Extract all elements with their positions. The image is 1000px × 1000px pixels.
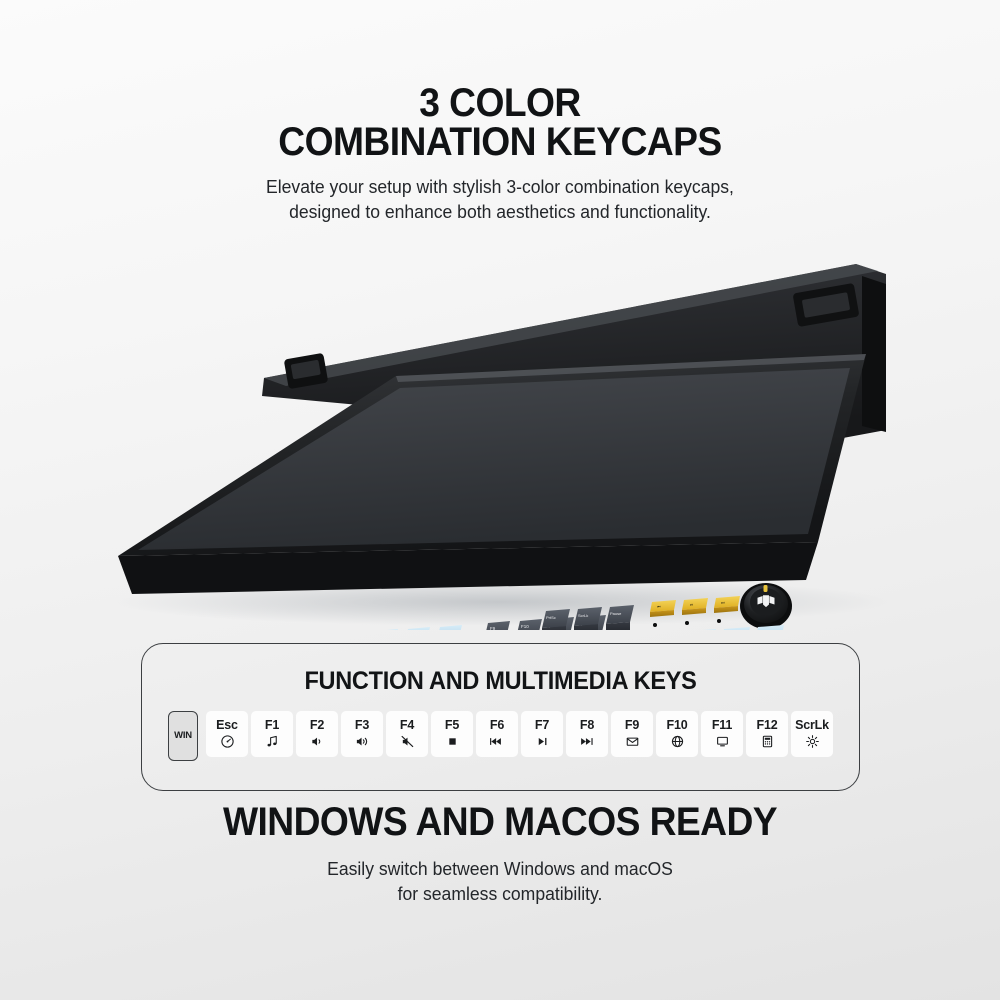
hero-subtitle-line2: designed to enhance both aesthetics and … — [25, 200, 975, 225]
power-icon — [220, 734, 235, 749]
function-key-label: WIN — [174, 731, 192, 741]
function-key-row: WINEscF1F2F3F4F5F6F7F8F9F10F11F12ScrLk — [142, 711, 859, 761]
music-note-icon — [265, 734, 280, 749]
function-key-label: F11 — [712, 719, 732, 732]
svg-text:⏮: ⏮ — [657, 604, 661, 609]
hero-title-line2: COMBINATION KEYCAPS — [35, 123, 965, 162]
volume-down-icon — [310, 734, 325, 749]
globe-icon — [670, 734, 685, 749]
volume-mute-icon — [400, 734, 415, 749]
keyboard-front-unit — [118, 354, 866, 594]
hero-subtitle: Elevate your setup with stylish 3-color … — [25, 175, 975, 225]
media-key-prev: ⏮ — [650, 600, 676, 617]
function-key-f3[interactable]: F3 — [341, 711, 383, 757]
function-key-f12[interactable]: F12 — [746, 711, 788, 757]
function-key-f11[interactable]: F11 — [701, 711, 743, 757]
function-key-f5[interactable]: F5 — [431, 711, 473, 757]
footer-subtitle-line1: Easily switch between Windows and macOS — [25, 857, 975, 882]
function-key-f8[interactable]: F8 — [566, 711, 608, 757]
function-key-label: ScrLk — [795, 719, 829, 732]
function-key-label: F8 — [580, 719, 594, 732]
product-image-keyboard: Esc F1 F2 F3 F4 F5 — [0, 250, 1000, 630]
function-key-f6[interactable]: F6 — [476, 711, 518, 757]
function-key-f9[interactable]: F9 — [611, 711, 653, 757]
calculator-icon — [760, 734, 775, 749]
footer-subtitle-line2: for seamless compatibility. — [25, 882, 975, 907]
monitor-icon — [715, 734, 730, 749]
svg-text:⏯: ⏯ — [690, 602, 693, 607]
function-key-label: F10 — [667, 719, 688, 732]
function-key-f4[interactable]: F4 — [386, 711, 428, 757]
hero-section: 3 COLOR COMBINATION KEYCAPS Elevate your… — [0, 84, 1000, 225]
feature-panel-function-keys: FUNCTION AND MULTIMEDIA KEYS WINEscF1F2F… — [141, 643, 860, 791]
keycap-f6: F6 — [372, 629, 398, 630]
function-key-f2[interactable]: F2 — [296, 711, 338, 757]
function-key-f7[interactable]: F7 — [521, 711, 563, 757]
function-key-label: Esc — [216, 719, 238, 732]
panel-title: FUNCTION AND MULTIMEDIA KEYS — [164, 667, 838, 696]
previous-track-icon — [489, 734, 505, 749]
hero-subtitle-line1: Elevate your setup with stylish 3-color … — [25, 175, 975, 200]
function-key-label: F2 — [310, 719, 324, 732]
svg-text:F9: F9 — [490, 626, 496, 630]
hero-title-line1: 3 COLOR — [419, 81, 580, 125]
svg-text:⏭: ⏭ — [721, 600, 725, 605]
media-key-playpause: ⏯ — [682, 598, 708, 615]
svg-text:ScrLk: ScrLk — [578, 613, 588, 618]
function-key-esc[interactable]: Esc — [206, 711, 248, 757]
function-key-label: F5 — [445, 719, 459, 732]
keycap-f7: F7 — [404, 627, 430, 630]
function-key-scrlk[interactable]: ScrLk — [791, 711, 833, 757]
footer-section: WINDOWS AND MACOS READY Easily switch be… — [0, 800, 1000, 907]
function-key-label: F9 — [625, 719, 639, 732]
svg-text:PrtSc: PrtSc — [546, 615, 556, 620]
svg-text:Pause: Pause — [610, 611, 622, 616]
keycap-numpad-divide: / — [686, 629, 716, 630]
mail-icon — [625, 734, 640, 749]
volume-up-icon — [355, 734, 370, 749]
volume-knob — [740, 583, 792, 629]
page-title: 3 COLOR COMBINATION KEYCAPS — [35, 84, 965, 162]
play-pause-icon — [535, 734, 550, 749]
gear-icon — [805, 734, 820, 749]
knob-indicator-mark — [764, 585, 768, 592]
function-key-win[interactable]: WIN — [168, 711, 198, 761]
media-key-next: ⏭ — [714, 596, 740, 613]
footer-title: WINDOWS AND MACOS READY — [35, 800, 965, 845]
stop-icon — [445, 734, 460, 749]
footer-subtitle: Easily switch between Windows and macOS … — [25, 857, 975, 907]
keycap-numpad-multiply: * — [720, 627, 750, 630]
function-key-label: F12 — [757, 719, 778, 732]
function-key-label: F4 — [400, 719, 414, 732]
function-key-f10[interactable]: F10 — [656, 711, 698, 757]
function-key-f1[interactable]: F1 — [251, 711, 293, 757]
next-track-icon — [579, 734, 595, 749]
function-key-label: F7 — [535, 719, 549, 732]
svg-text:F10: F10 — [521, 624, 529, 629]
function-key-label: F6 — [490, 719, 504, 732]
function-key-label: F1 — [265, 719, 279, 732]
function-key-label: F3 — [355, 719, 369, 732]
